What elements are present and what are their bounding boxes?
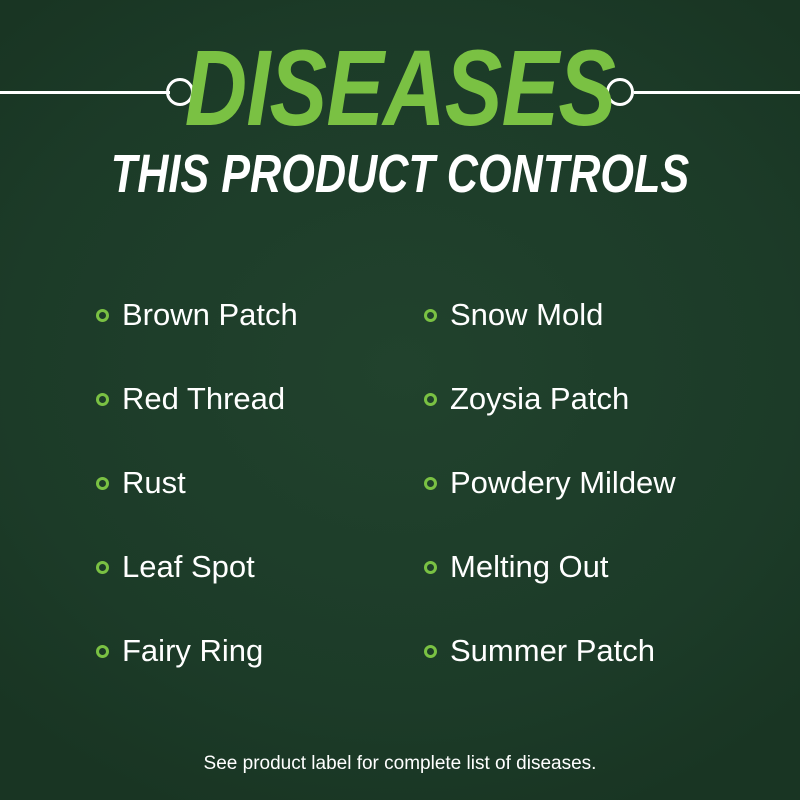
page-subtitle: THIS PRODUCT CONTROLS — [80, 147, 720, 201]
ring-bullet-icon — [96, 561, 109, 574]
list-item: Red Thread — [96, 357, 298, 441]
ring-bullet-icon — [424, 645, 437, 658]
list-item: Brown Patch — [96, 273, 298, 357]
list-item: Zoysia Patch — [424, 357, 676, 441]
page-title: DISEASES — [80, 34, 720, 142]
list-item: Snow Mold — [424, 273, 676, 357]
ring-bullet-icon — [424, 309, 437, 322]
list-item: Powdery Mildew — [424, 441, 676, 525]
list-item-label: Brown Patch — [122, 298, 298, 332]
disease-list: Brown Patch Red Thread Rust Leaf Spot Fa… — [0, 273, 800, 693]
disease-column-2: Snow Mold Zoysia Patch Powdery Mildew Me… — [424, 273, 676, 693]
ring-bullet-icon — [96, 393, 109, 406]
disease-column-1: Brown Patch Red Thread Rust Leaf Spot Fa… — [96, 273, 298, 693]
list-item-label: Fairy Ring — [122, 634, 263, 668]
list-item: Rust — [96, 441, 298, 525]
ring-bullet-icon — [424, 393, 437, 406]
ring-bullet-icon — [96, 477, 109, 490]
ring-bullet-icon — [96, 645, 109, 658]
list-item-label: Rust — [122, 466, 186, 500]
list-item-label: Red Thread — [122, 382, 285, 416]
ring-bullet-icon — [424, 477, 437, 490]
list-item-label: Summer Patch — [450, 634, 655, 668]
list-item: Summer Patch — [424, 609, 676, 693]
list-item-label: Melting Out — [450, 550, 609, 584]
list-item-label: Powdery Mildew — [450, 466, 676, 500]
footer-note: See product label for complete list of d… — [0, 752, 800, 776]
list-item-label: Zoysia Patch — [450, 382, 629, 416]
ring-bullet-icon — [424, 561, 437, 574]
list-item: Melting Out — [424, 525, 676, 609]
list-item: Leaf Spot — [96, 525, 298, 609]
list-item: Fairy Ring — [96, 609, 298, 693]
list-item-label: Snow Mold — [450, 298, 603, 332]
list-item-label: Leaf Spot — [122, 550, 255, 584]
diseases-poster: DISEASES THIS PRODUCT CONTROLS Brown Pat… — [0, 0, 800, 800]
ring-bullet-icon — [96, 309, 109, 322]
